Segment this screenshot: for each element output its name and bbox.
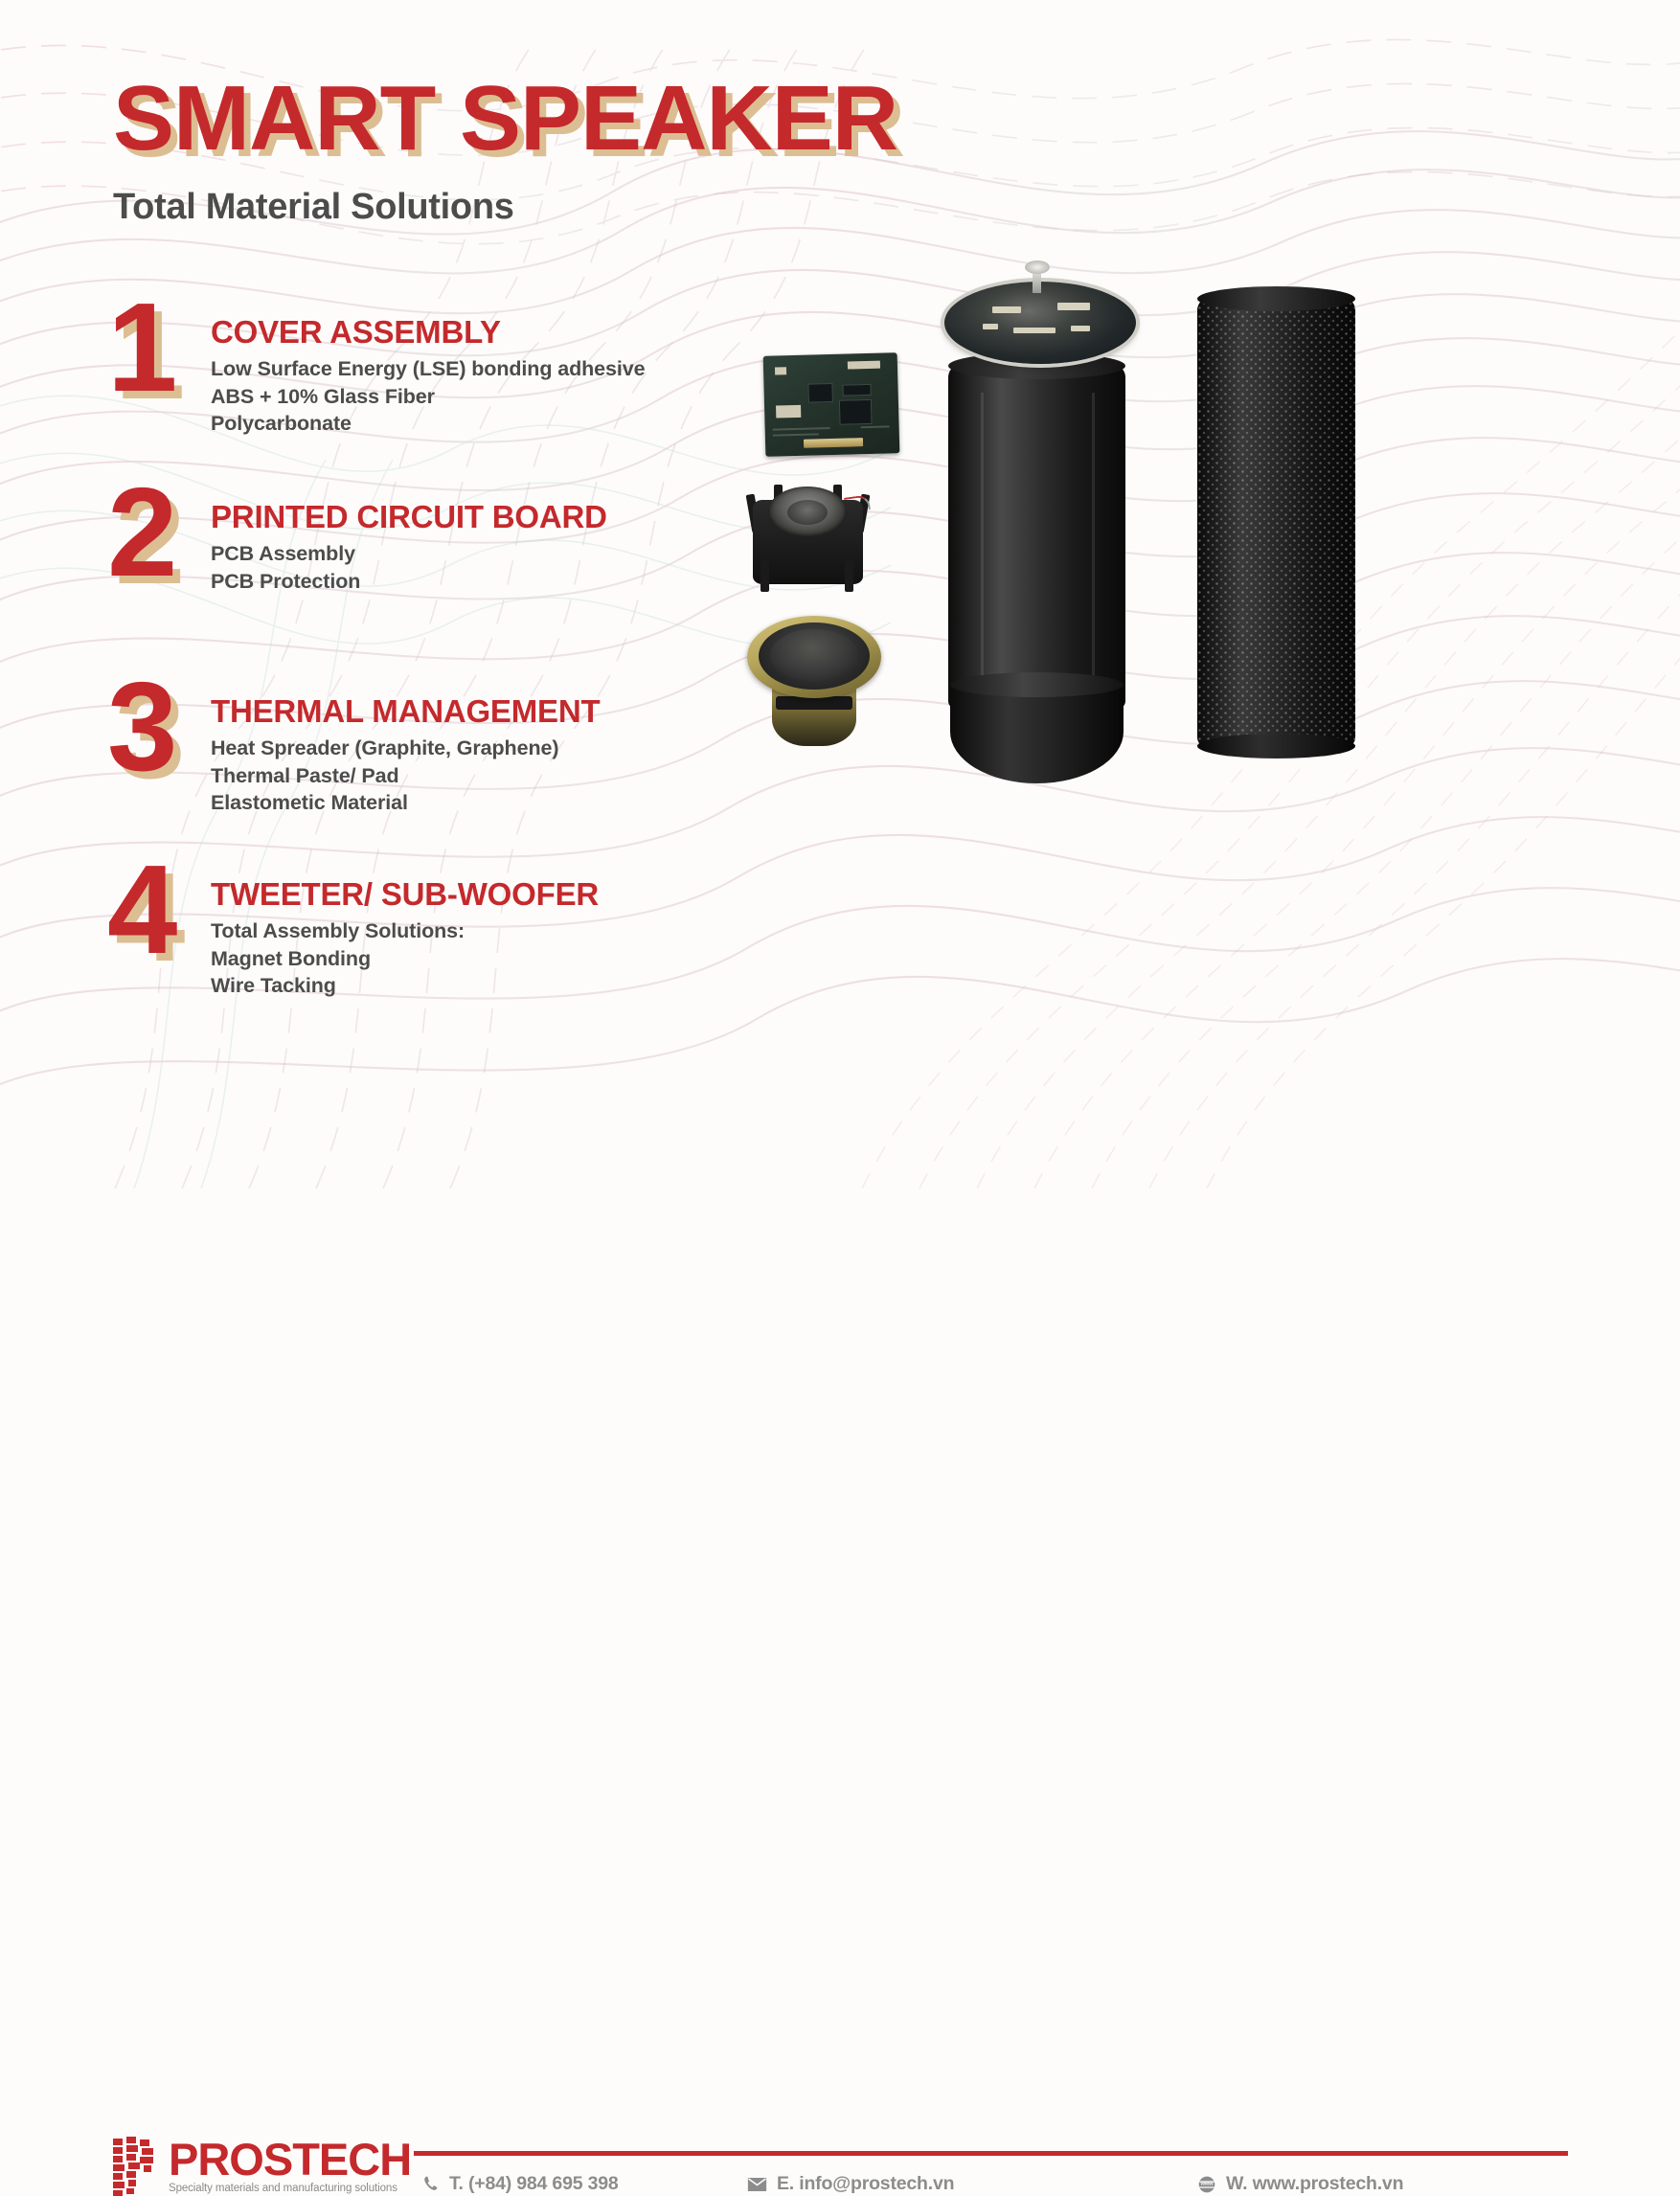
item-line: Polycarbonate — [211, 410, 720, 437]
svg-text:www: www — [1199, 2181, 1214, 2186]
list-item-cover-assembly: 1 COVER ASSEMBLY Low Surface Energy (LSE… — [107, 302, 720, 441]
title-block: SMART SPEAKER Total Material Solutions — [113, 72, 897, 228]
infographic-page: SMART SPEAKER Total Material Solutions 1… — [0, 0, 1680, 1189]
logo-wordmark: PROSTECH — [169, 2139, 411, 2182]
contact-phone-text: T. (+84) 984 695 398 — [449, 2173, 619, 2195]
item-number: 3 — [107, 664, 198, 790]
prostech-logomark-icon — [113, 2137, 163, 2196]
contact-email-text: E. info@prostech.vn — [777, 2173, 954, 2195]
footer-divider — [414, 2151, 1568, 2156]
envelope-icon — [747, 2177, 767, 2192]
item-number: 1 — [107, 284, 198, 411]
item-line: ABS + 10% Glass Fiber — [211, 383, 720, 410]
contact-website[interactable]: www W. www.prostech.vn — [1197, 2173, 1552, 2195]
logo-tagline: Specialty materials and manufacturing so… — [169, 2183, 411, 2194]
item-number: 4 — [107, 847, 198, 973]
item-line: PCB Assembly — [211, 540, 720, 567]
item-heading: TWEETER/ SUB-WOOFER — [211, 877, 720, 912]
prostech-logo[interactable]: PROSTECH Specialty materials and manufac… — [113, 2137, 448, 2196]
product-exploded-view — [728, 259, 1398, 833]
item-number: 2 — [107, 469, 198, 596]
contact-website-text: W. www.prostech.vn — [1226, 2173, 1403, 2195]
sub-woofer-part — [738, 608, 891, 761]
item-heading: PRINTED CIRCUIT BOARD — [211, 500, 720, 534]
contact-email[interactable]: E. info@prostech.vn — [747, 2173, 1197, 2195]
item-line: Total Assembly Solutions: — [211, 917, 720, 944]
solutions-list: 1 COVER ASSEMBLY Low Surface Energy (LSE… — [107, 302, 720, 1031]
list-item-thermal-management: 3 THERMAL MANAGEMENT Heat Spreader (Grap… — [107, 681, 720, 820]
speaker-body-part — [948, 364, 1125, 737]
item-line: Elastometic Material — [211, 789, 720, 816]
printed-circuit-board-part — [763, 352, 900, 457]
list-item-tweeter-subwoofer: 4 TWEETER/ SUB-WOOFER Total Assembly Sol… — [107, 864, 720, 1003]
item-line: Wire Tacking — [211, 972, 720, 999]
contact-bar: T. (+84) 984 695 398 E. info@prostech.vn — [421, 2173, 1571, 2195]
page-subtitle: Total Material Solutions — [113, 187, 897, 228]
tweeter-part — [745, 479, 870, 594]
mesh-grille-part — [1197, 297, 1355, 747]
phone-icon — [421, 2175, 440, 2193]
item-heading: THERMAL MANAGEMENT — [211, 694, 720, 729]
item-line: Low Surface Energy (LSE) bonding adhesiv… — [211, 355, 720, 382]
item-line: Magnet Bonding — [211, 945, 720, 972]
page-title: SMART SPEAKER — [113, 72, 897, 166]
top-control-board-part — [944, 268, 1136, 374]
list-item-printed-circuit-board: 2 PRINTED CIRCUIT BOARD PCB Assembly PCB… — [107, 487, 720, 625]
item-line: Heat Spreader (Graphite, Graphene) — [211, 735, 720, 761]
globe-www-icon: www — [1197, 2175, 1216, 2194]
item-line: Thermal Paste/ Pad — [211, 762, 720, 789]
item-line: PCB Protection — [211, 568, 720, 595]
contact-phone[interactable]: T. (+84) 984 695 398 — [421, 2173, 747, 2195]
item-heading: COVER ASSEMBLY — [211, 315, 720, 350]
footer: PROSTECH Specialty materials and manufac… — [0, 1045, 1680, 1189]
